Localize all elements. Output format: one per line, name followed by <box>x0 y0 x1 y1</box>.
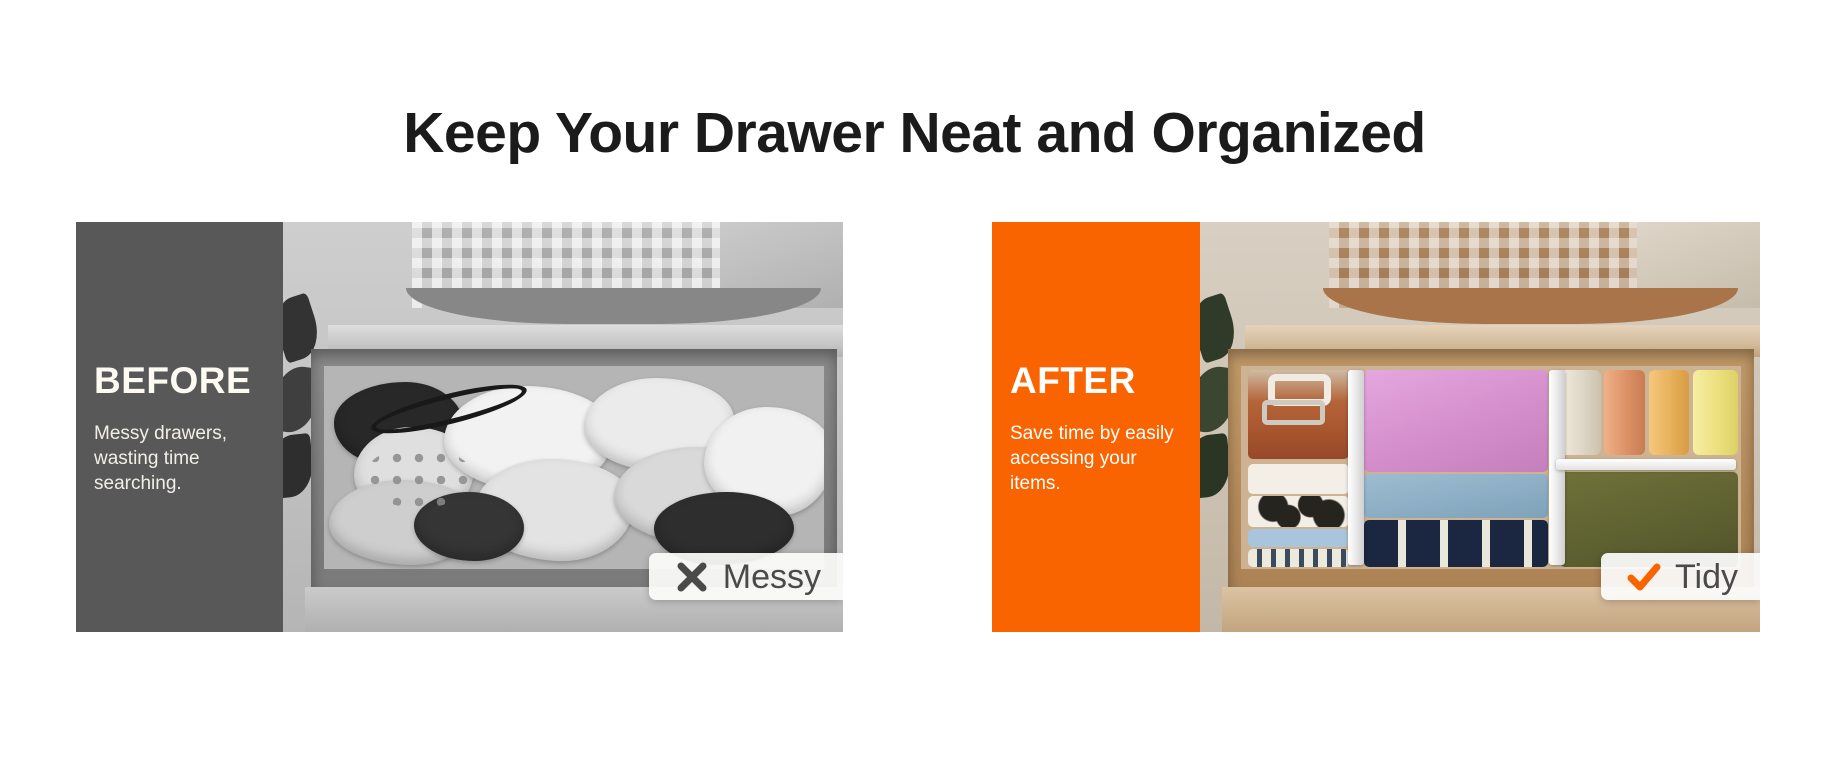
drawer-interior <box>1241 366 1741 569</box>
folded-shirt <box>1364 520 1548 567</box>
rolled-towel <box>1560 370 1601 455</box>
compartment-accessories <box>1241 366 1356 569</box>
patterned-garment <box>364 447 474 508</box>
jumbled-clothes <box>324 366 824 569</box>
folded-sock <box>1248 464 1349 494</box>
tidy-badge-label: Tidy <box>1675 560 1738 594</box>
drawer-divider <box>1348 370 1364 565</box>
folded-shirt <box>1364 370 1548 472</box>
comparison-card-after: AFTER Save time by easily accessing your… <box>992 222 1760 632</box>
belt-stack <box>1248 370 1349 459</box>
before-label-panel: BEFORE Messy drawers, wasting time searc… <box>76 222 283 632</box>
folded-sock <box>1248 529 1349 547</box>
folded-sock <box>1248 549 1349 567</box>
belt-buckle-icon <box>1262 400 1325 424</box>
drawer-divider <box>1556 459 1736 469</box>
comparison-card-before: BEFORE Messy drawers, wasting time searc… <box>76 222 843 632</box>
after-description: Save time by easily accessing your items… <box>1010 421 1182 496</box>
tidy-badge: Tidy <box>1601 553 1760 600</box>
cross-icon <box>675 560 709 594</box>
organized-compartments <box>1241 366 1741 569</box>
check-icon <box>1627 560 1661 594</box>
messy-badge-label: Messy <box>723 560 821 594</box>
rolled-towel <box>1649 370 1690 455</box>
after-title: AFTER <box>1010 359 1182 403</box>
after-label-panel: AFTER Save time by easily accessing your… <box>992 222 1200 632</box>
drawer-interior <box>324 366 824 569</box>
before-title: BEFORE <box>94 359 265 403</box>
folded-sock <box>1248 496 1349 526</box>
before-after-comparison: BEFORE Messy drawers, wasting time searc… <box>0 222 1829 632</box>
rolled-towel <box>1693 370 1737 455</box>
messy-badge: Messy <box>649 553 843 600</box>
before-description: Messy drawers, wasting time searching. <box>94 421 265 496</box>
page-title: Keep Your Drawer Neat and Organized <box>0 100 1829 166</box>
folded-shirt <box>1364 474 1548 519</box>
compartment-shirts <box>1356 366 1556 569</box>
rolled-towel <box>1604 370 1645 455</box>
